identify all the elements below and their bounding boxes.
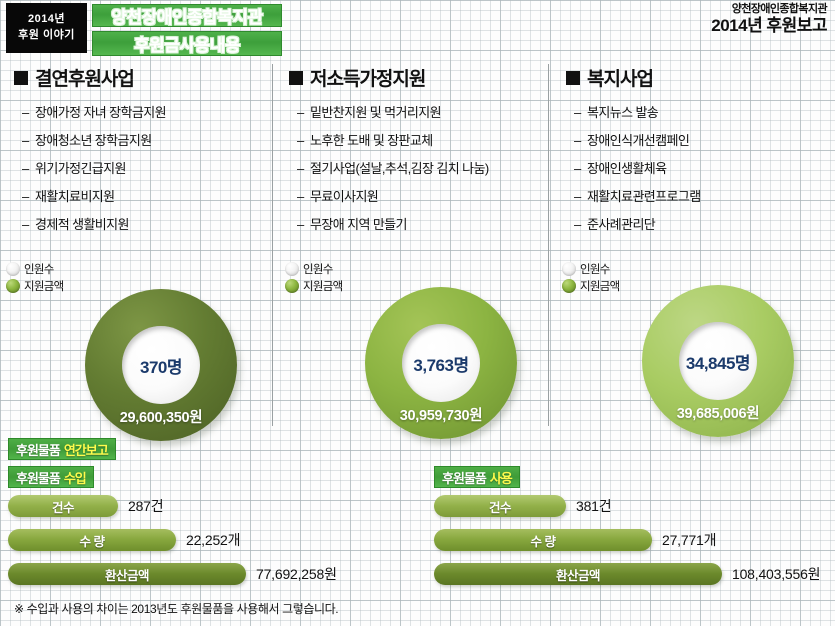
list-item: –복지뉴스 발송	[574, 105, 828, 120]
dash-icon: –	[574, 189, 587, 204]
bar-value-income-quantity: 22,252개	[186, 530, 240, 550]
bar-value-usage-quantity: 27,771개	[662, 530, 716, 550]
bar-row-income-amount: 환산금액 77,692,258원	[8, 563, 337, 585]
column-heading: 저소득가정지원	[289, 64, 551, 91]
tag-usage-word1: 후원물품	[442, 468, 486, 487]
dash-icon: –	[574, 105, 587, 120]
list-item-label: 장애인생활체육	[587, 161, 667, 176]
list-item: –무료이사지원	[297, 189, 551, 204]
tag-goods-income: 후원물품 수입	[8, 466, 94, 488]
list-item-label: 장애청소년 장학금지원	[35, 133, 152, 148]
bar-value-income-amount: 77,692,258원	[256, 564, 337, 584]
bar-usage-quantity: 수 량	[434, 529, 652, 551]
bar-row-income-count: 건수 287건	[8, 495, 163, 517]
dash-icon: –	[297, 189, 310, 204]
list-item: –장애인식개선캠페인	[574, 133, 828, 148]
list-item: –무장애 지역 만들기	[297, 217, 551, 232]
infographic-page: 2014년 후원 이야기 양천장애인종합복지관 후원금사용내용 양천장애인종합복…	[0, 0, 835, 626]
dash-icon: –	[297, 161, 310, 176]
program-list: –장애가정 자녀 장학금지원 –장애청소년 장학금지원 –위기가정긴급지원 –재…	[8, 105, 276, 232]
legend-marker-amount-icon	[562, 279, 576, 293]
donut-count-label: 3,763명	[413, 351, 468, 376]
bar-value-usage-count: 381건	[576, 496, 611, 516]
tag-goods-usage: 후원물품 사용	[434, 466, 520, 488]
legend-entry-people: 인원수	[6, 260, 64, 277]
donut-chart-gyeolyeon: 370명 29,600,350원	[85, 289, 237, 441]
list-item: –장애인생활체육	[574, 161, 828, 176]
bar-income-quantity: 수 량	[8, 529, 176, 551]
legend-marker-amount-icon	[285, 279, 299, 293]
legend-label-people: 인원수	[580, 261, 610, 277]
bar-usage-amount: 환산금액	[434, 563, 722, 585]
chart-legend-2: 인원수 지원금액	[285, 260, 343, 294]
list-item: –재활치료관련프로그램	[574, 189, 828, 204]
bar-row-usage-count: 건수 381건	[434, 495, 611, 517]
program-list: –복지뉴스 발송 –장애인식개선캠페인 –장애인생활체육 –재활치료관련프로그램…	[560, 105, 828, 232]
donut-center: 3,763명	[402, 324, 480, 402]
program-column-lowincome: 저소득가정지원 –밑반찬지원 및 먹거리지원 –노후한 도배 및 장판교체 –절…	[283, 64, 551, 245]
donut-count-label: 370명	[140, 353, 182, 378]
legend-marker-people-icon	[562, 262, 576, 276]
list-item-label: 무장애 지역 만들기	[310, 217, 407, 232]
column-heading-label: 결연후원사업	[35, 64, 134, 91]
list-item-label: 재활치료관련프로그램	[587, 189, 701, 204]
column-heading-label: 저소득가정지원	[310, 64, 425, 91]
dash-icon: –	[574, 133, 587, 148]
header-right-organization: 양천장애인종합복지관	[711, 2, 827, 16]
banner-subtitle: 후원금사용내용	[92, 31, 282, 56]
tag-annual-word2: 연간보고	[64, 440, 108, 459]
list-item-label: 장애가정 자녀 장학금지원	[35, 105, 166, 120]
banner-organization: 양천장애인종합복지관	[92, 4, 282, 27]
donut-chart-lowincome: 3,763명 30,959,730원	[365, 287, 517, 439]
bar-income-amount: 환산금액	[8, 563, 246, 585]
donut-center: 370명	[122, 326, 200, 404]
dash-icon: –	[22, 105, 35, 120]
legend-entry-people: 인원수	[562, 260, 620, 277]
legend-marker-people-icon	[285, 262, 299, 276]
legend-label-amount: 지원금액	[580, 278, 620, 294]
tag-income-word2: 수입	[64, 468, 86, 487]
list-item: –준사례관리단	[574, 217, 828, 232]
list-item-label: 무료이사지원	[310, 189, 378, 204]
list-item-label: 준사례관리단	[587, 217, 655, 232]
program-list: –밑반찬지원 및 먹거리지원 –노후한 도배 및 장판교체 –절기사업(설날,추…	[283, 105, 551, 232]
bar-row-usage-quantity: 수 량 27,771개	[434, 529, 716, 551]
chart-legend-3: 인원수 지원금액	[562, 260, 620, 294]
bar-row-income-quantity: 수 량 22,252개	[8, 529, 240, 551]
legend-entry-amount: 지원금액	[6, 277, 64, 294]
list-item-label: 절기사업(설날,추석,김장 김치 나눔)	[310, 161, 489, 176]
legend-entry-amount: 지원금액	[285, 277, 343, 294]
tag-usage-word2: 사용	[490, 468, 512, 487]
square-bullet-icon	[14, 71, 28, 85]
bar-row-usage-amount: 환산금액 108,403,556원	[434, 563, 820, 585]
legend-label-amount: 지원금액	[303, 278, 343, 294]
program-column-gyeolyeon: 결연후원사업 –장애가정 자녀 장학금지원 –장애청소년 장학금지원 –위기가정…	[8, 64, 276, 245]
legend-entry-people: 인원수	[285, 260, 343, 277]
donut-count-label: 34,845명	[686, 349, 750, 374]
square-bullet-icon	[289, 71, 303, 85]
header-right-block: 양천장애인종합복지관 2014년 후원보고	[711, 2, 827, 36]
list-item-label: 재활치료비지원	[35, 189, 115, 204]
dash-icon: –	[297, 105, 310, 120]
column-heading: 결연후원사업	[14, 64, 276, 91]
bar-income-count: 건수	[8, 495, 118, 517]
list-item: –경제적 생활비지원	[22, 217, 276, 232]
legend-marker-amount-icon	[6, 279, 20, 293]
donut-amount-label: 30,959,730원	[365, 404, 517, 425]
legend-label-people: 인원수	[303, 261, 333, 277]
list-item-label: 노후한 도배 및 장판교체	[310, 133, 433, 148]
list-item: –재활치료비지원	[22, 189, 276, 204]
tag-annual-word1: 후원물품	[16, 440, 60, 459]
donut-chart-welfare: 34,845명 39,685,006원	[642, 285, 794, 437]
legend-label-people: 인원수	[24, 261, 54, 277]
dash-icon: –	[574, 161, 587, 176]
list-item: –장애청소년 장학금지원	[22, 133, 276, 148]
square-bullet-icon	[566, 71, 580, 85]
year-title-line2: 후원 이야기	[18, 28, 75, 44]
legend-entry-amount: 지원금액	[562, 277, 620, 294]
dash-icon: –	[22, 189, 35, 204]
tag-annual-report: 후원물품 연간보고	[8, 438, 116, 460]
footnote: ※ 수입과 사용의 차이는 2013년도 후원물품을 사용해서 그렇습니다.	[14, 600, 338, 617]
dash-icon: –	[297, 133, 310, 148]
bar-value-income-count: 287건	[128, 496, 163, 516]
list-item: –위기가정긴급지원	[22, 161, 276, 176]
legend-label-amount: 지원금액	[24, 278, 64, 294]
bar-value-usage-amount: 108,403,556원	[732, 564, 820, 584]
dash-icon: –	[574, 217, 587, 232]
donut-amount-label: 39,685,006원	[642, 402, 794, 423]
dash-icon: –	[22, 217, 35, 232]
tag-income-word1: 후원물품	[16, 468, 60, 487]
year-title-line1: 2014년	[28, 12, 65, 28]
list-item-label: 복지뉴스 발송	[587, 105, 658, 120]
year-title-box: 2014년 후원 이야기	[6, 3, 87, 53]
header-right-title: 2014년 후원보고	[711, 16, 827, 36]
list-item-label: 위기가정긴급지원	[35, 161, 126, 176]
legend-marker-people-icon	[6, 262, 20, 276]
donut-center: 34,845명	[679, 322, 757, 400]
program-column-welfare: 복지사업 –복지뉴스 발송 –장애인식개선캠페인 –장애인생활체육 –재활치료관…	[560, 64, 828, 245]
list-item: –밑반찬지원 및 먹거리지원	[297, 105, 551, 120]
dash-icon: –	[297, 217, 310, 232]
list-item: –절기사업(설날,추석,김장 김치 나눔)	[297, 161, 551, 176]
bar-usage-count: 건수	[434, 495, 566, 517]
donut-amount-label: 29,600,350원	[85, 406, 237, 427]
list-item-label: 장애인식개선캠페인	[587, 133, 689, 148]
list-item-label: 밑반찬지원 및 먹거리지원	[310, 105, 441, 120]
dash-icon: –	[22, 133, 35, 148]
list-item: –노후한 도배 및 장판교체	[297, 133, 551, 148]
list-item: –장애가정 자녀 장학금지원	[22, 105, 276, 120]
column-heading: 복지사업	[566, 64, 828, 91]
column-heading-label: 복지사업	[587, 64, 653, 91]
dash-icon: –	[22, 161, 35, 176]
list-item-label: 경제적 생활비지원	[35, 217, 129, 232]
chart-legend-1: 인원수 지원금액	[6, 260, 64, 294]
